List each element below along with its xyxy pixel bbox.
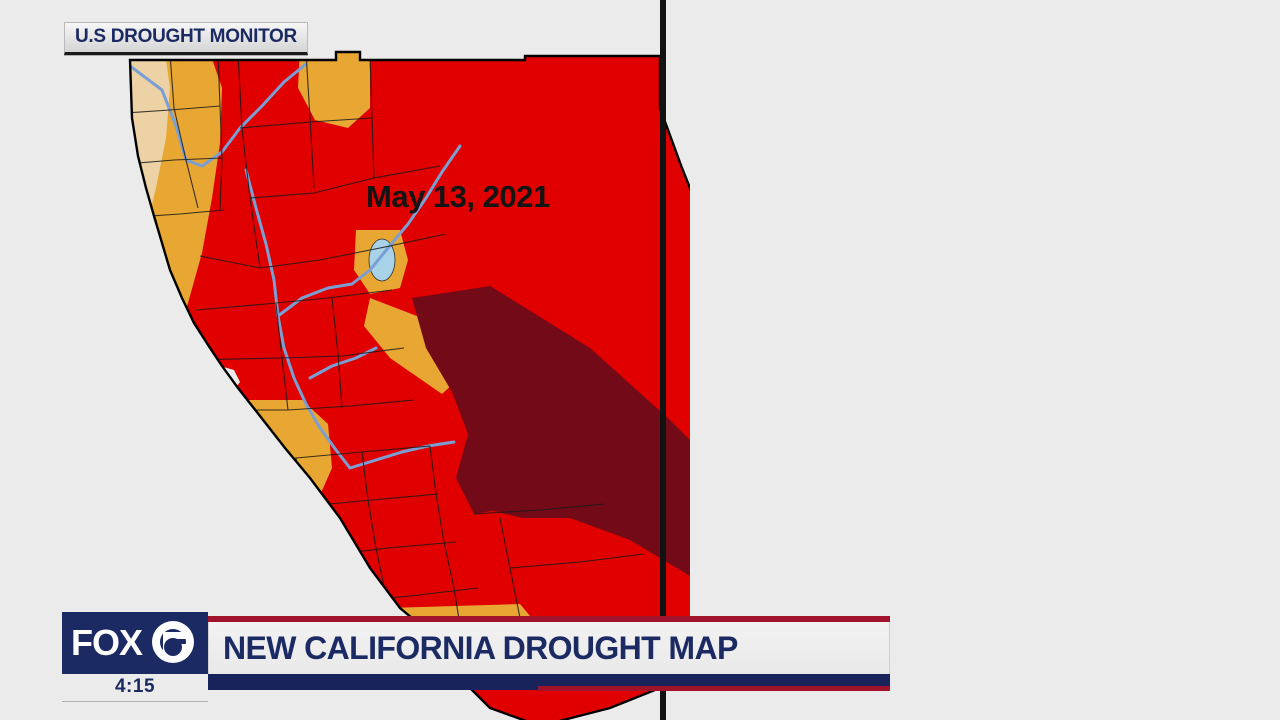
headline-text: NEW CALIFORNIA DROUGHT MAP [209, 630, 738, 667]
broadcast-screen: U.S DROUGHT MONITOR [0, 0, 1280, 720]
clock: 4:15 [62, 676, 208, 706]
fox2-logo-mark: FOX [69, 620, 201, 666]
lower-third-bar: FOX 4:15 NEW CALIFORNIA DROUGHT MAP [0, 600, 1280, 720]
clock-underline [62, 701, 208, 702]
banner-body: NEW CALIFORNIA DROUGHT MAP [208, 622, 890, 674]
svg-text:FOX: FOX [71, 622, 143, 663]
banner-bottom-accent [538, 686, 890, 691]
headline-banner: NEW CALIFORNIA DROUGHT MAP [208, 616, 890, 692]
fox2-logo: FOX [62, 612, 208, 674]
clock-time: 4:15 [62, 676, 208, 698]
date-label-left: May 13, 2021 [366, 179, 550, 215]
